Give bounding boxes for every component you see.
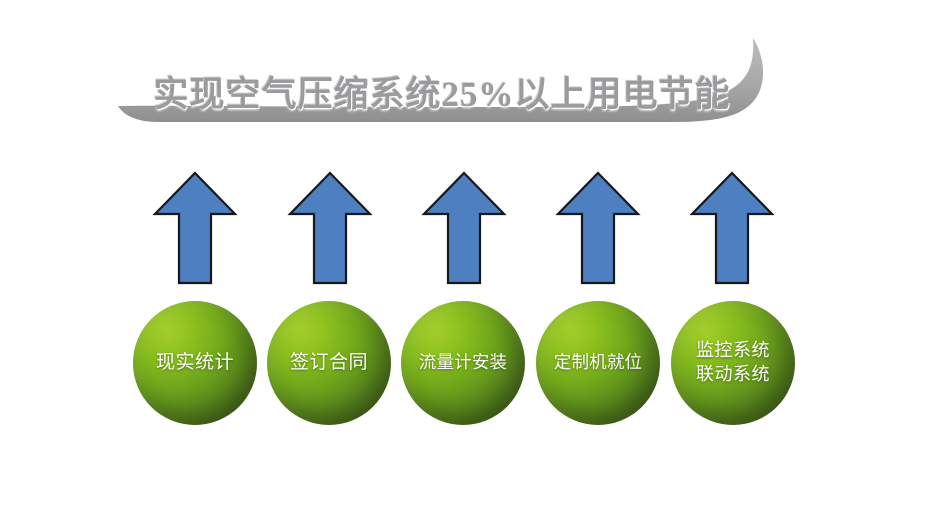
- arrow-up-icon: [152, 170, 238, 286]
- process-node-label-line: 监控系统: [696, 339, 770, 363]
- arrow-up-icon: [421, 170, 507, 286]
- process-node-step-3[interactable]: 流量计安装: [401, 301, 525, 425]
- process-node-label: 签订合同: [267, 301, 391, 425]
- process-node-label: 流量计安装: [401, 301, 525, 425]
- process-node-label-line: 流量计安装: [419, 351, 508, 374]
- arrow-up-icon: [287, 170, 373, 286]
- process-node-step-2[interactable]: 签订合同: [267, 301, 391, 425]
- process-node-label: 现实统计: [133, 301, 257, 425]
- arrow-up-icon: [689, 170, 775, 286]
- slide-canvas: 实现空气压缩系统25%以上用电节能 现实统计 签订合同: [0, 0, 945, 529]
- process-node-label-line: 联动系统: [696, 363, 770, 387]
- title-banner: 实现空气压缩系统25%以上用电节能: [112, 32, 782, 144]
- process-node-step-1[interactable]: 现实统计: [133, 301, 257, 425]
- process-node-label: 定制机就位: [536, 301, 660, 425]
- process-node-label-line: 现实统计: [156, 350, 234, 375]
- process-node-label: 监控系统 联动系统: [671, 301, 795, 425]
- page-title: 实现空气压缩系统25%以上用电节能: [142, 66, 742, 117]
- process-node-label-line: 定制机就位: [554, 351, 643, 374]
- process-node-step-5[interactable]: 监控系统 联动系统: [671, 301, 795, 425]
- arrow-up-icon: [555, 170, 641, 286]
- process-node-label-line: 签订合同: [290, 350, 368, 375]
- process-node-step-4[interactable]: 定制机就位: [536, 301, 660, 425]
